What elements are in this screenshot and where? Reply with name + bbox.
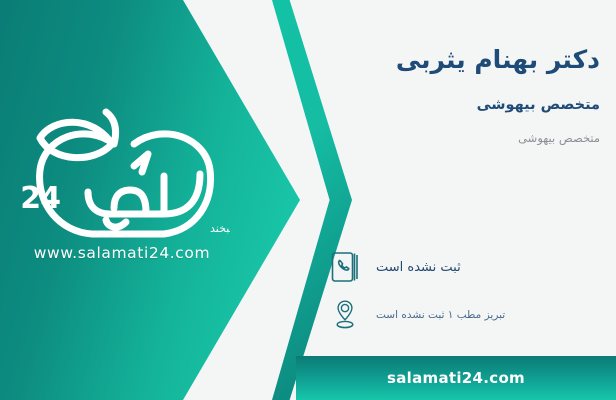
phone-book-icon	[328, 248, 362, 286]
logo-wordmark-fa	[88, 154, 200, 227]
logo-tagline: براحتی یک لبخند	[210, 222, 230, 235]
phone-value: ثبت نشده است	[376, 260, 461, 275]
footer-bar: salamati24.com	[296, 356, 616, 400]
doctor-info-panel: دکتر بهنام یثربی متخصص بیهوشی متخصص بیهو…	[316, 0, 616, 400]
location-pin-icon	[328, 296, 362, 334]
doctor-name: دکتر بهنام یثربی	[332, 44, 600, 75]
address-value: تبریز مطب ۱ ثبت نشده است	[376, 309, 505, 321]
address-row[interactable]: تبریز مطب ۱ ثبت نشده است	[328, 292, 602, 338]
brand-logo: 24 براحتی یک لبخند www.salamati24.com	[14, 104, 230, 284]
doctor-specialty-subtitle: متخصص بیهوشی	[332, 131, 600, 146]
logo-url-text: www.salamati24.com	[14, 244, 230, 262]
apple-logo-icon: 24 براحتی یک لبخند	[14, 104, 230, 254]
doctor-specialty: متخصص بیهوشی	[332, 96, 600, 115]
svg-text:براحتی یک لبخند: براحتی یک لبخند	[210, 222, 230, 235]
phone-row[interactable]: ثبت نشده است	[328, 248, 602, 286]
svg-text:24: 24	[20, 181, 60, 216]
doctor-profile-card: 24 براحتی یک لبخند www.salamati24.com دک…	[0, 0, 616, 400]
logo-badge-24: 24	[20, 181, 60, 216]
footer-url-text: salamati24.com	[387, 369, 525, 387]
